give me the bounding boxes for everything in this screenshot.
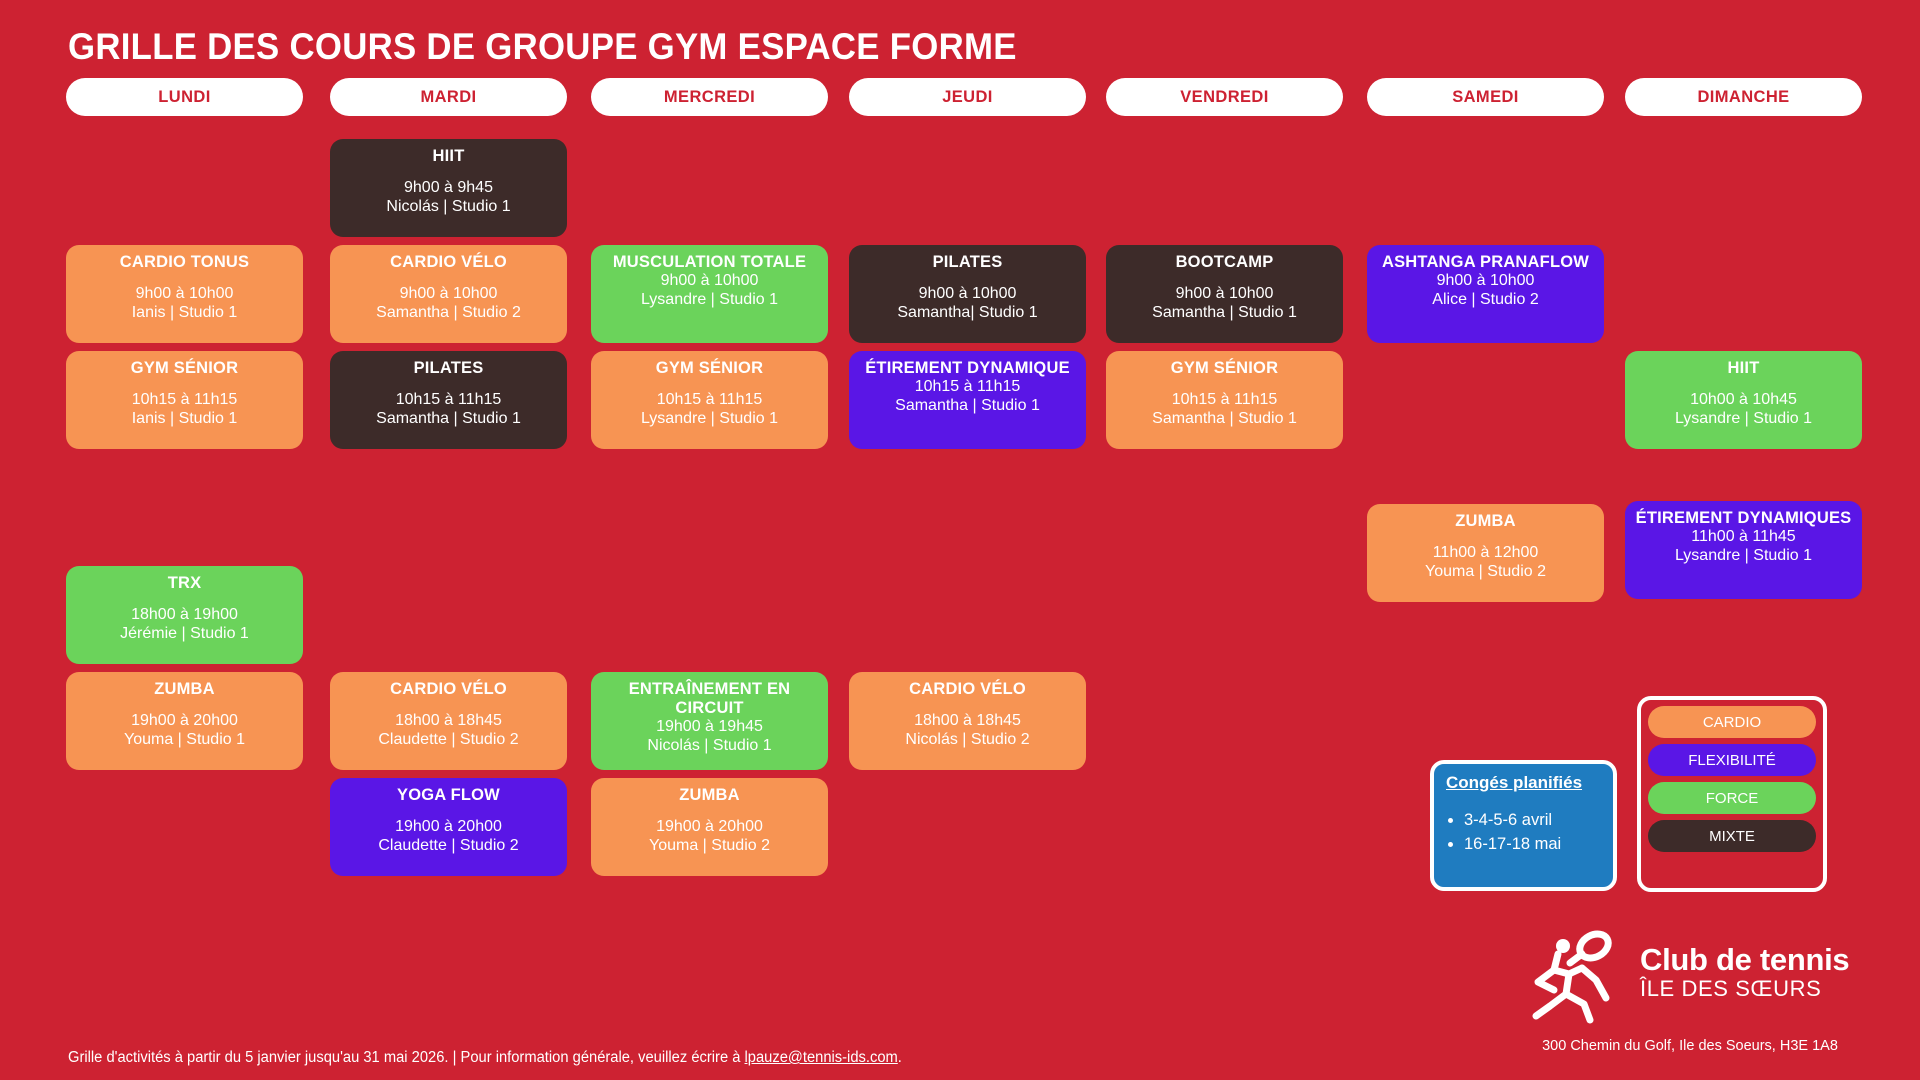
class-time: 18h00 à 19h00	[72, 606, 297, 625]
planned-closures-box: Congés planifiés 3-4-5-6 avril16-17-18 m…	[1430, 760, 1617, 891]
class-card[interactable]: PILATES10h15 à 11h15Samantha | Studio 1	[330, 351, 567, 449]
class-instructor-studio: Samantha| Studio 1	[855, 304, 1080, 323]
card-spacer	[72, 593, 297, 606]
footer-text-after: .	[898, 1049, 902, 1066]
class-title: TRX	[72, 574, 297, 593]
card-spacer	[1112, 378, 1337, 391]
day-header-mardi: MARDI	[330, 78, 567, 116]
class-time: 9h00 à 9h45	[336, 179, 561, 198]
day-header-jeudi: JEUDI	[849, 78, 1086, 116]
day-header-dimanche: DIMANCHE	[1625, 78, 1862, 116]
class-card[interactable]: MUSCULATION TOTALE9h00 à 10h00Lysandre |…	[591, 245, 828, 343]
class-instructor-studio: Lysandre | Studio 1	[1631, 547, 1856, 566]
day-column-lundi: LUNDICARDIO TONUS9h00 à 10h00Ianis | Stu…	[66, 78, 303, 116]
card-spacer	[1373, 531, 1598, 544]
card-spacer	[72, 272, 297, 285]
class-title: YOGA FLOW	[336, 786, 561, 805]
day-column-samedi: SAMEDIASHTANGA PRANAFLOW9h00 à 10h00Alic…	[1367, 78, 1604, 116]
class-instructor-studio: Nicolás | Studio 1	[597, 737, 822, 756]
class-instructor-studio: Samantha | Studio 1	[336, 410, 561, 429]
class-instructor-studio: Youma | Studio 2	[597, 837, 822, 856]
card-spacer	[336, 166, 561, 179]
class-time: 9h00 à 10h00	[597, 272, 822, 291]
class-time: 10h15 à 11h15	[72, 391, 297, 410]
class-instructor-studio: Youma | Studio 1	[72, 731, 297, 750]
class-card[interactable]: HIIT10h00 à 10h45Lysandre | Studio 1	[1625, 351, 1862, 449]
logo-line-1: Club de tennis	[1640, 944, 1849, 975]
class-time: 19h00 à 20h00	[336, 818, 561, 837]
class-card[interactable]: TRX18h00 à 19h00Jérémie | Studio 1	[66, 566, 303, 664]
class-instructor-studio: Youma | Studio 2	[1373, 563, 1598, 582]
class-card[interactable]: YOGA FLOW19h00 à 20h00Claudette | Studio…	[330, 778, 567, 876]
class-card[interactable]: ASHTANGA PRANAFLOW9h00 à 10h00Alice | St…	[1367, 245, 1604, 343]
planned-closures-heading: Congés planifiés	[1446, 773, 1603, 793]
planned-closures-list: 3-4-5-6 avril16-17-18 mai	[1446, 809, 1603, 857]
class-instructor-studio: Ianis | Studio 1	[72, 304, 297, 323]
card-spacer	[336, 699, 561, 712]
class-time: 18h00 à 18h45	[336, 712, 561, 731]
class-time: 9h00 à 10h00	[72, 285, 297, 304]
class-card[interactable]: CARDIO VÉLO18h00 à 18h45Nicolás | Studio…	[849, 672, 1086, 770]
day-column-vendredi: VENDREDIBOOTCAMP9h00 à 10h00Samantha | S…	[1106, 78, 1343, 116]
class-time: 10h15 à 11h15	[597, 391, 822, 410]
card-spacer	[336, 805, 561, 818]
day-header-mercredi: MERCREDI	[591, 78, 828, 116]
class-card[interactable]: CARDIO VÉLO18h00 à 18h45Claudette | Stud…	[330, 672, 567, 770]
day-header-samedi: SAMEDI	[1367, 78, 1604, 116]
class-instructor-studio: Ianis | Studio 1	[72, 410, 297, 429]
card-spacer	[855, 699, 1080, 712]
card-spacer	[1631, 378, 1856, 391]
class-title: ÉTIREMENT DYNAMIQUE	[855, 359, 1080, 378]
legend-item-force[interactable]: FORCE	[1648, 782, 1816, 814]
footer-note: Grille d'activités à partir du 5 janvier…	[68, 1049, 902, 1067]
class-card[interactable]: GYM SÉNIOR10h15 à 11h15Samantha | Studio…	[1106, 351, 1343, 449]
class-card[interactable]: ÉTIREMENT DYNAMIQUES11h00 à 11h45Lysandr…	[1625, 501, 1862, 599]
legend-item-flexibilite[interactable]: FLEXIBILITÉ	[1648, 744, 1816, 776]
class-instructor-studio: Samantha | Studio 2	[336, 304, 561, 323]
class-instructor-studio: Lysandre | Studio 1	[597, 410, 822, 429]
class-instructor-studio: Samantha | Studio 1	[855, 397, 1080, 416]
tennis-player-icon	[1520, 924, 1632, 1041]
class-time: 9h00 à 10h00	[336, 285, 561, 304]
schedule-poster: GRILLE DES COURS DE GROUPE GYM ESPACE FO…	[0, 0, 1920, 1080]
class-card[interactable]: ZUMBA19h00 à 20h00Youma | Studio 1	[66, 672, 303, 770]
class-instructor-studio: Samantha | Studio 1	[1112, 304, 1337, 323]
class-instructor-studio: Samantha | Studio 1	[1112, 410, 1337, 429]
class-title: ÉTIREMENT DYNAMIQUES	[1631, 509, 1856, 528]
class-time: 18h00 à 18h45	[855, 712, 1080, 731]
club-logo: Club de tennis ÎLE DES SŒURS 300 Chemin …	[1520, 920, 1860, 1065]
class-time: 10h15 à 11h15	[336, 391, 561, 410]
class-card[interactable]: PILATES9h00 à 10h00Samantha| Studio 1	[849, 245, 1086, 343]
class-instructor-studio: Claudette | Studio 2	[336, 731, 561, 750]
card-spacer	[1112, 272, 1337, 285]
card-spacer	[597, 378, 822, 391]
class-title: GYM SÉNIOR	[72, 359, 297, 378]
class-instructor-studio: Lysandre | Studio 1	[597, 291, 822, 310]
class-title: PILATES	[855, 253, 1080, 272]
class-title: ENTRAÎNEMENT EN CIRCUIT	[597, 680, 822, 718]
day-column-dimanche: DIMANCHEHIIT10h00 à 10h45Lysandre | Stud…	[1625, 78, 1862, 116]
class-time: 9h00 à 10h00	[1112, 285, 1337, 304]
class-title: CARDIO TONUS	[72, 253, 297, 272]
class-title: HIIT	[336, 147, 561, 166]
class-card[interactable]: CARDIO VÉLO9h00 à 10h00Samantha | Studio…	[330, 245, 567, 343]
class-title: ZUMBA	[1373, 512, 1598, 531]
class-title: ASHTANGA PRANAFLOW	[1373, 253, 1598, 272]
class-card[interactable]: GYM SÉNIOR10h15 à 11h15Lysandre | Studio…	[591, 351, 828, 449]
class-time: 19h00 à 20h00	[597, 818, 822, 837]
card-spacer	[72, 699, 297, 712]
day-column-mardi: MARDIHIIT9h00 à 9h45Nicolás | Studio 1CA…	[330, 78, 567, 116]
card-spacer	[855, 272, 1080, 285]
day-header-lundi: LUNDI	[66, 78, 303, 116]
class-instructor-studio: Nicolás | Studio 2	[855, 731, 1080, 750]
class-card[interactable]: GYM SÉNIOR10h15 à 11h15Ianis | Studio 1	[66, 351, 303, 449]
class-instructor-studio: Claudette | Studio 2	[336, 837, 561, 856]
class-time: 10h00 à 10h45	[1631, 391, 1856, 410]
class-instructor-studio: Jérémie | Studio 1	[72, 625, 297, 644]
class-time: 11h00 à 11h45	[1631, 528, 1856, 547]
logo-line-2: ÎLE DES SŒURS	[1640, 975, 1849, 1003]
class-card[interactable]: HIIT9h00 à 9h45Nicolás | Studio 1	[330, 139, 567, 237]
class-instructor-studio: Nicolás | Studio 1	[336, 198, 561, 217]
class-title: CARDIO VÉLO	[855, 680, 1080, 699]
class-card[interactable]: ZUMBA19h00 à 20h00Youma | Studio 2	[591, 778, 828, 876]
class-time: 9h00 à 10h00	[855, 285, 1080, 304]
category-legend: CARDIOFLEXIBILITÉFORCEMIXTE	[1637, 696, 1827, 892]
class-time: 19h00 à 19h45	[597, 718, 822, 737]
class-title: BOOTCAMP	[1112, 253, 1337, 272]
closure-item: 16-17-18 mai	[1464, 833, 1603, 857]
class-title: MUSCULATION TOTALE	[597, 253, 822, 272]
legend-item-mixte[interactable]: MIXTE	[1648, 820, 1816, 852]
day-column-mercredi: MERCREDIMUSCULATION TOTALE9h00 à 10h00Ly…	[591, 78, 828, 116]
legend-item-cardio[interactable]: CARDIO	[1648, 706, 1816, 738]
logo-text: Club de tennis ÎLE DES SŒURS	[1640, 944, 1849, 1003]
footer-text-before: Grille d'activités à partir du 5 janvier…	[68, 1049, 745, 1066]
class-title: ZUMBA	[597, 786, 822, 805]
class-card[interactable]: ÉTIREMENT DYNAMIQUE10h15 à 11h15Samantha…	[849, 351, 1086, 449]
class-title: CARDIO VÉLO	[336, 680, 561, 699]
class-title: HIIT	[1631, 359, 1856, 378]
class-time: 19h00 à 20h00	[72, 712, 297, 731]
club-address: 300 Chemin du Golf, Ile des Soeurs, H3E …	[1520, 1038, 1860, 1054]
class-instructor-studio: Alice | Studio 2	[1373, 291, 1598, 310]
class-instructor-studio: Lysandre | Studio 1	[1631, 410, 1856, 429]
class-time: 10h15 à 11h15	[855, 378, 1080, 397]
class-card[interactable]: BOOTCAMP9h00 à 10h00Samantha | Studio 1	[1106, 245, 1343, 343]
card-spacer	[597, 805, 822, 818]
card-spacer	[336, 272, 561, 285]
class-title: GYM SÉNIOR	[1112, 359, 1337, 378]
card-spacer	[336, 378, 561, 391]
day-column-jeudi: JEUDIPILATES9h00 à 10h00Samantha| Studio…	[849, 78, 1086, 116]
class-time: 10h15 à 11h15	[1112, 391, 1337, 410]
class-card[interactable]: ZUMBA11h00 à 12h00Youma | Studio 2	[1367, 504, 1604, 602]
class-title: GYM SÉNIOR	[597, 359, 822, 378]
class-card[interactable]: CARDIO TONUS9h00 à 10h00Ianis | Studio 1	[66, 245, 303, 343]
class-card[interactable]: ENTRAÎNEMENT EN CIRCUIT19h00 à 19h45Nico…	[591, 672, 828, 770]
day-header-vendredi: VENDREDI	[1106, 78, 1343, 116]
page-title: GRILLE DES COURS DE GROUPE GYM ESPACE FO…	[68, 26, 1017, 68]
class-time: 11h00 à 12h00	[1373, 544, 1598, 563]
contact-email-link[interactable]: lpauze@tennis-ids.com	[745, 1049, 898, 1066]
class-title: ZUMBA	[72, 680, 297, 699]
closure-item: 3-4-5-6 avril	[1464, 809, 1603, 833]
class-title: PILATES	[336, 359, 561, 378]
class-time: 9h00 à 10h00	[1373, 272, 1598, 291]
class-title: CARDIO VÉLO	[336, 253, 561, 272]
card-spacer	[72, 378, 297, 391]
